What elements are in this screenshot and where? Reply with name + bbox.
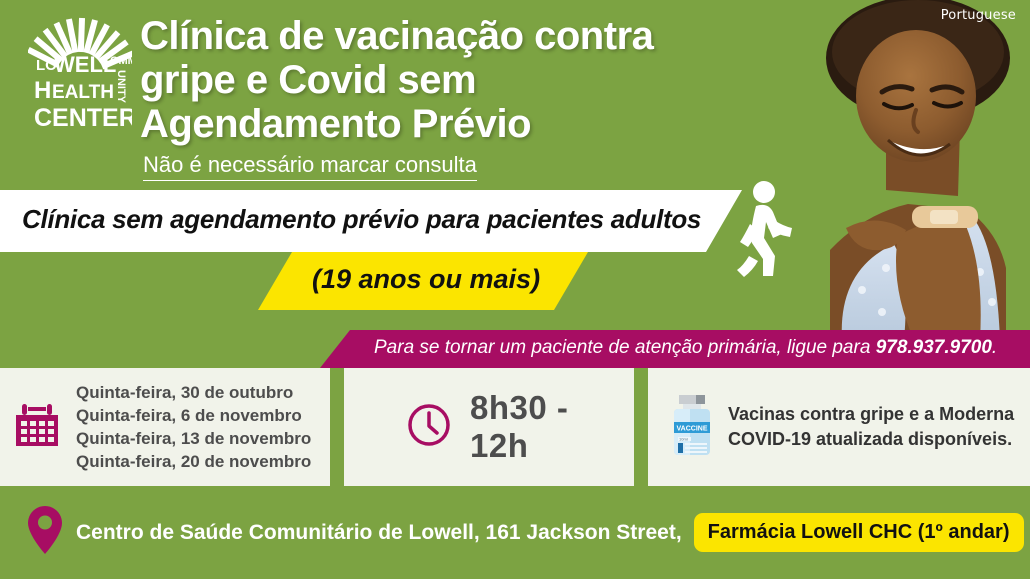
svg-text:VACCINE: VACCINE	[677, 425, 708, 432]
age-requirement-text: (19 anos ou mais)	[312, 264, 540, 295]
callout-lead: Para se tornar um paciente de atenção pr…	[374, 337, 876, 358]
svg-text:10ml: 10ml	[679, 436, 688, 441]
location-footer: Centro de Saúde Comunitário de Lowell, 1…	[0, 486, 1030, 579]
list-item: Quinta-feira, 30 de outubro	[76, 381, 311, 404]
dates-list: Quinta-feira, 30 de outubro Quinta-feira…	[76, 381, 311, 473]
clock-icon	[406, 402, 452, 453]
info-cards-row: Quinta-feira, 30 de outubro Quinta-feira…	[0, 368, 1030, 486]
callout-phone: 978.937.9700	[876, 337, 992, 358]
primary-care-callout-text: Para se tornar um paciente de atenção pr…	[374, 337, 997, 359]
svg-text:CENTER: CENTER	[34, 104, 132, 132]
primary-care-callout: Para se tornar um paciente de atenção pr…	[320, 330, 1030, 368]
flu-covid-clinic-poster: Portuguese	[0, 0, 1030, 579]
vaccine-line-2: COVID-19 atualizada disponíveis.	[728, 427, 1014, 452]
card-divider	[330, 368, 344, 486]
vaccine-availability-text: Vacinas contra gripe e a Moderna COVID-1…	[728, 402, 1014, 452]
list-item: Quinta-feira, 20 de novembro	[76, 450, 311, 473]
svg-text:COMM: COMM	[102, 55, 132, 67]
walking-person-icon	[726, 180, 796, 278]
page-subtitle: Não é necessário marcar consulta	[143, 152, 477, 181]
svg-text:UNITY: UNITY	[115, 70, 127, 104]
page-title: Clínica de vacinação contra gripe e Covi…	[140, 14, 740, 146]
vaccine-line-1: Vacinas contra gripe e a Moderna	[728, 402, 1014, 427]
list-item: Quinta-feira, 13 de novembro	[76, 427, 311, 450]
dates-card: Quinta-feira, 30 de outubro Quinta-feira…	[0, 368, 330, 486]
calendar-icon	[14, 402, 60, 453]
vaccine-vial-icon: VACCINE 10ml	[670, 394, 714, 461]
callout-suffix: .	[992, 337, 997, 358]
patient-photo	[790, 0, 1030, 340]
pharmacy-badge: Farmácia Lowell CHC (1º andar)	[694, 513, 1024, 552]
lowell-chc-logo: LO WELL COMM H EALTH UNITY CENTER	[28, 14, 132, 142]
language-label: Portuguese	[941, 8, 1016, 23]
hours-card: 8h30 - 12h	[344, 368, 634, 486]
clinic-address: Centro de Saúde Comunitário de Lowell, 1…	[76, 521, 682, 545]
walk-in-clinic-banner: Clínica sem agendamento prévio para paci…	[0, 190, 742, 252]
list-item: Quinta-feira, 6 de novembro	[76, 404, 311, 427]
location-pin-icon	[28, 506, 62, 559]
age-requirement-banner: (19 anos ou mais)	[258, 252, 588, 310]
card-divider	[634, 368, 648, 486]
poster-header: LO WELL COMM H EALTH UNITY CENTER Clínic…	[0, 0, 800, 180]
walk-in-clinic-text: Clínica sem agendamento prévio para paci…	[22, 204, 701, 235]
svg-text:H: H	[34, 77, 51, 104]
hours-value: 8h30 - 12h	[470, 389, 634, 465]
svg-text:EALTH: EALTH	[52, 82, 114, 103]
vaccine-availability-card: VACCINE 10ml Vacinas contra gripe e a Mo…	[648, 368, 1030, 486]
